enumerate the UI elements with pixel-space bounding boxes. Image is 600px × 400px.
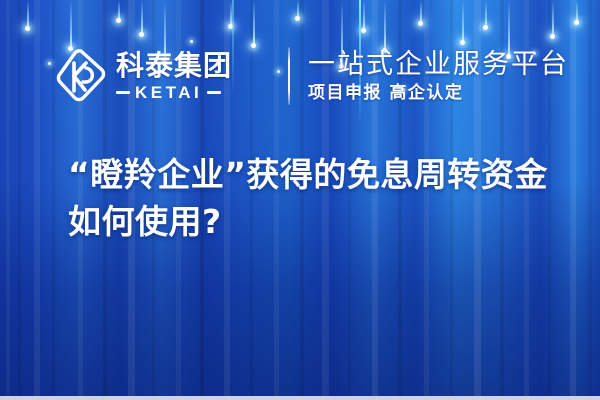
- company-name-en: KETAI: [135, 84, 202, 101]
- brand-slogan: 一站式企业服务平台 项目申报 高企认定: [308, 50, 569, 103]
- headline: “瞪羚企业”获得的免息周转资金 如何使用?: [68, 152, 588, 246]
- wordmark-dash-right: [207, 91, 221, 94]
- bottom-edge-strip: [0, 396, 600, 400]
- promo-banner: 科泰集团 KETAI 一站式企业服务平台 项目申报 高企认定 “瞪羚企业”获得的…: [0, 0, 600, 400]
- banner-header: 科泰集团 KETAI 一站式企业服务平台 项目申报 高企认定: [55, 40, 569, 112]
- slogan-main: 一站式企业服务平台: [308, 50, 569, 79]
- brand-logo: 科泰集团 KETAI: [55, 48, 268, 104]
- wordmark-dash-left: [116, 91, 130, 94]
- headline-line-1: “瞪羚企业”获得的免息周转资金: [68, 152, 588, 199]
- headline-line-2: 如何使用?: [68, 199, 588, 246]
- company-name-cn: 科泰集团: [116, 52, 268, 80]
- slogan-sub: 项目申报 高企认定: [308, 84, 569, 103]
- brand-wordmark: 科泰集团 KETAI: [116, 52, 268, 101]
- header-divider: [288, 47, 290, 105]
- company-name-en-row: KETAI: [116, 84, 268, 101]
- ketai-diamond-kp-logo-icon: [55, 48, 107, 104]
